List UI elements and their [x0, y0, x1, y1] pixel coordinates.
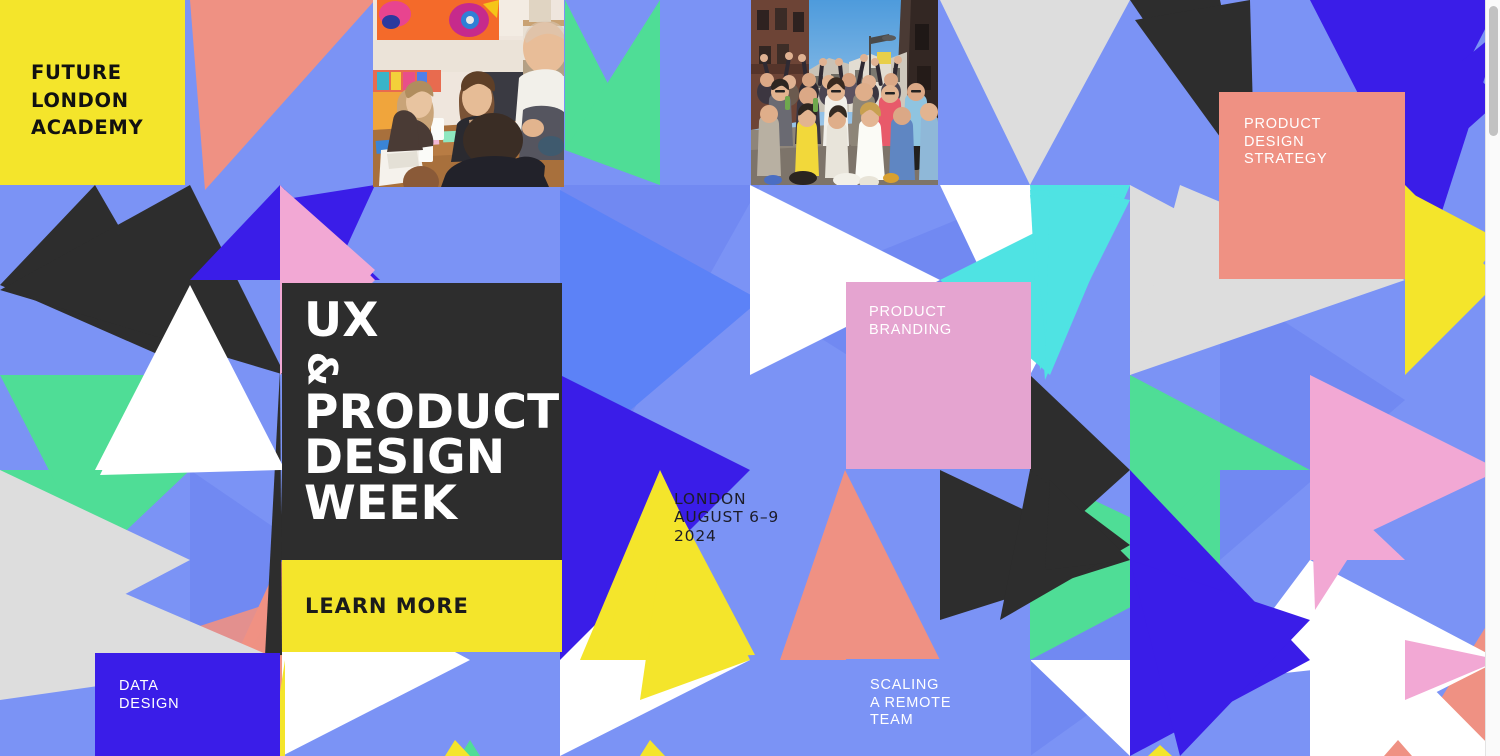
- workshop-photo-image: [373, 0, 564, 187]
- hero-title-line-4: DESIGN: [304, 435, 559, 481]
- course-card-label: PRODUCT DESIGN STRATEGY: [1244, 116, 1327, 169]
- learn-more-label: LEARN MORE: [305, 594, 469, 618]
- logo-text: FUTURE LONDON ACADEMY: [31, 59, 143, 142]
- course-card-scaling-a-remote-team[interactable]: SCALING A REMOTE TEAM: [846, 659, 1031, 756]
- crowd-photo[interactable]: [751, 0, 938, 185]
- workshop-photo[interactable]: [373, 0, 564, 187]
- hero-title-ampersand-line: &: [304, 344, 559, 390]
- vertical-scrollbar-track[interactable]: [1485, 0, 1500, 756]
- hero-title-line-3: PRODUCT: [304, 390, 559, 436]
- course-card-label: DATA DESIGN: [119, 678, 179, 713]
- hero-title: UX & PRODUCT DESIGN WEEK: [304, 298, 559, 527]
- course-card-label: PRODUCT BRANDING: [869, 304, 952, 339]
- hero-title-line-5: WEEK: [304, 481, 559, 527]
- rotated-ampersand: &: [302, 351, 342, 386]
- hero-title-line-1: UX: [304, 298, 559, 344]
- vertical-scrollbar-thumb[interactable]: [1489, 6, 1498, 136]
- course-card-data-design[interactable]: DATA DESIGN: [95, 653, 280, 756]
- course-card-label: SCALING A REMOTE TEAM: [870, 677, 951, 730]
- crowd-photo-image: [751, 0, 938, 185]
- course-card-product-design-strategy[interactable]: PRODUCT DESIGN STRATEGY: [1219, 92, 1405, 279]
- logo-tile[interactable]: FUTURE LONDON ACADEMY: [0, 0, 185, 185]
- course-card-product-branding[interactable]: PRODUCT BRANDING: [846, 282, 1031, 469]
- hero-title-block: UX & PRODUCT DESIGN WEEK: [282, 283, 562, 560]
- page-root: FUTURE LONDON ACADEMY: [0, 0, 1500, 756]
- learn-more-button[interactable]: LEARN MORE: [282, 560, 562, 652]
- event-location-and-dates: LONDON AUGUST 6–9 2024: [674, 490, 779, 545]
